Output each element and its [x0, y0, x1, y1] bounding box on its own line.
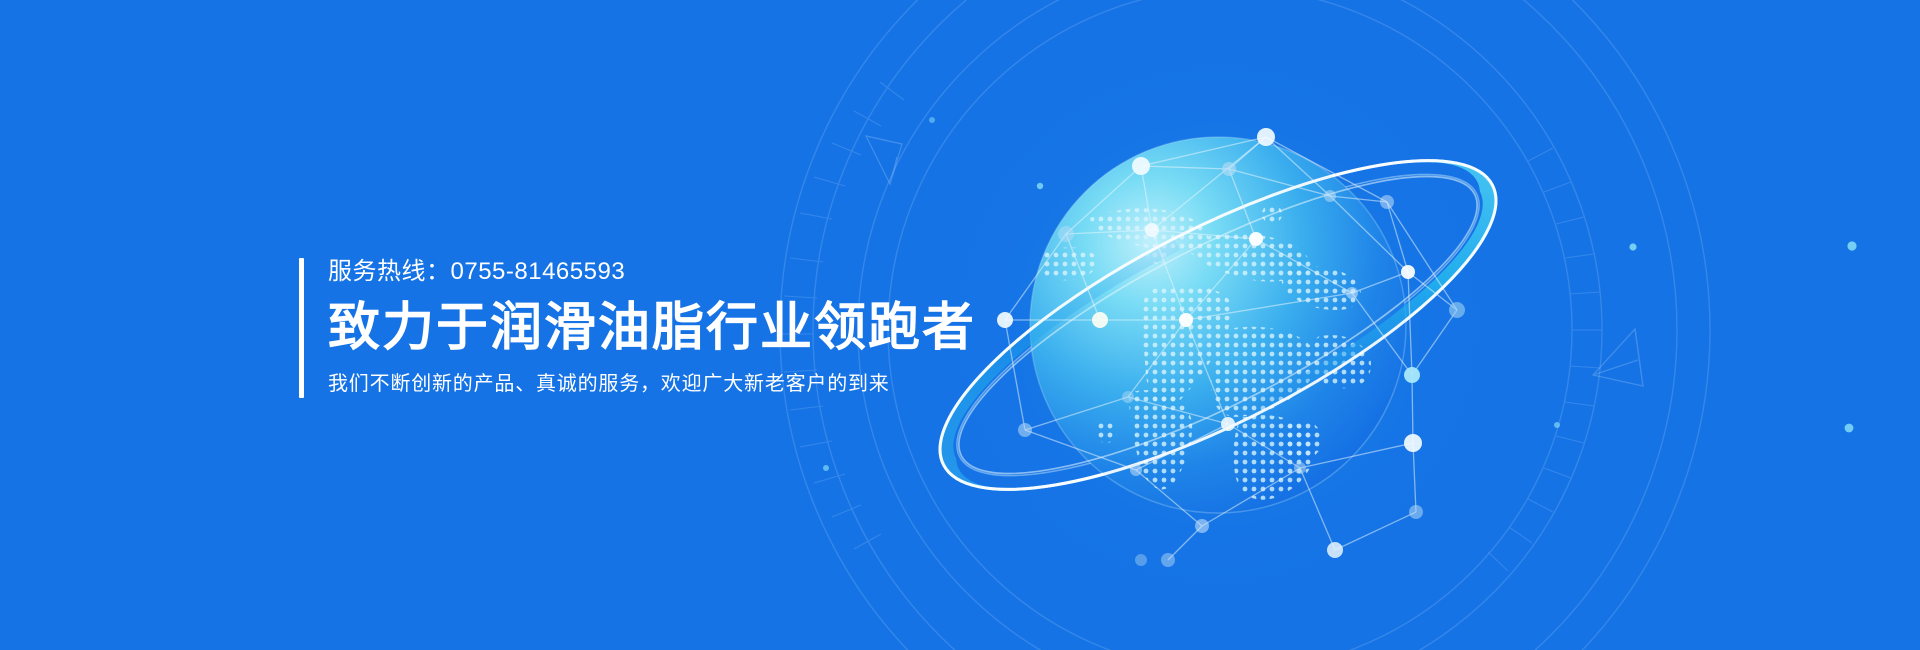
banner-subtitle: 我们不断创新的产品、真诚的服务，欢迎广大新老客户的到来 [328, 369, 976, 399]
banner-headline: 致力于润滑油脂行业领跑者 [328, 297, 976, 359]
banner-copy: 服务热线：0755-81465593 致力于润滑油脂行业领跑者 我们不断创新的产… [299, 255, 976, 399]
wireframe-triangle-right [1593, 329, 1643, 386]
globe-sphere [1030, 137, 1406, 513]
orbit-ring-front [900, 99, 1537, 552]
network-lines [1005, 137, 1457, 560]
hero-banner: 服务热线：0755-81465593 致力于润滑油脂行业领跑者 我们不断创新的产… [0, 0, 1920, 650]
accent-bar [299, 258, 304, 398]
wireframe-triangle-left [866, 136, 902, 184]
network-nodes [997, 128, 1465, 567]
scatter-dots [823, 117, 1857, 471]
dotted-world-map [1039, 204, 1371, 500]
service-hotline: 服务热线：0755-81465593 [328, 255, 976, 289]
globe-glow [928, 35, 1508, 615]
orbit-ring-back [900, 99, 1537, 552]
